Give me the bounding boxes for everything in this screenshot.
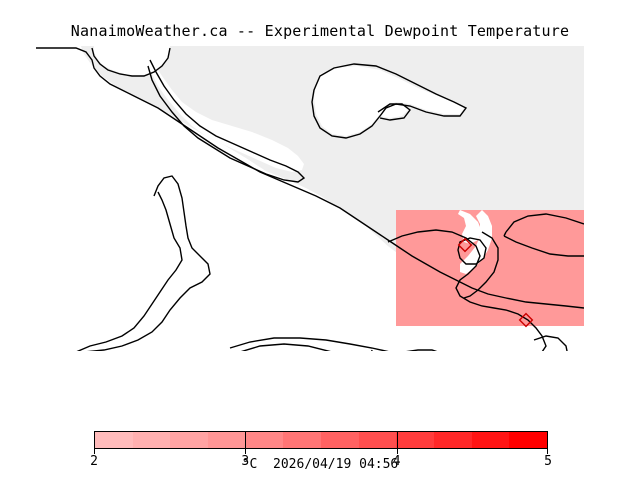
colorbar-segment-0: [95, 432, 133, 448]
colorbar-segment-7: [359, 432, 397, 448]
colorbar-segment-9: [434, 432, 472, 448]
colorbar-segment-3: [208, 432, 246, 448]
colorbar-segment-6: [321, 432, 359, 448]
colorbar-segment-1: [133, 432, 171, 448]
page-title: NanaimoWeather.ca -- Experimental Dewpoi…: [0, 22, 640, 40]
colorbar-segment-11: [509, 432, 547, 448]
colorbar-tick-4: [397, 431, 398, 449]
weather-map-page: NanaimoWeather.ca -- Experimental Dewpoi…: [0, 0, 640, 480]
colorbar-segment-2: [170, 432, 208, 448]
map-panel[interactable]: [36, 46, 584, 351]
colorbar-segment-5: [283, 432, 321, 448]
colorbar-gradient[interactable]: [94, 431, 548, 449]
colorbar-segment-8: [396, 432, 434, 448]
map-canvas[interactable]: [36, 46, 584, 351]
colorbar-segment-4: [246, 432, 284, 448]
colorbar-segment-10: [472, 432, 510, 448]
colorbar-caption: °C 2026/04/19 04:56: [0, 457, 640, 472]
colorbar-tick-3: [245, 431, 246, 449]
colorbar[interactable]: 2345: [94, 431, 548, 449]
